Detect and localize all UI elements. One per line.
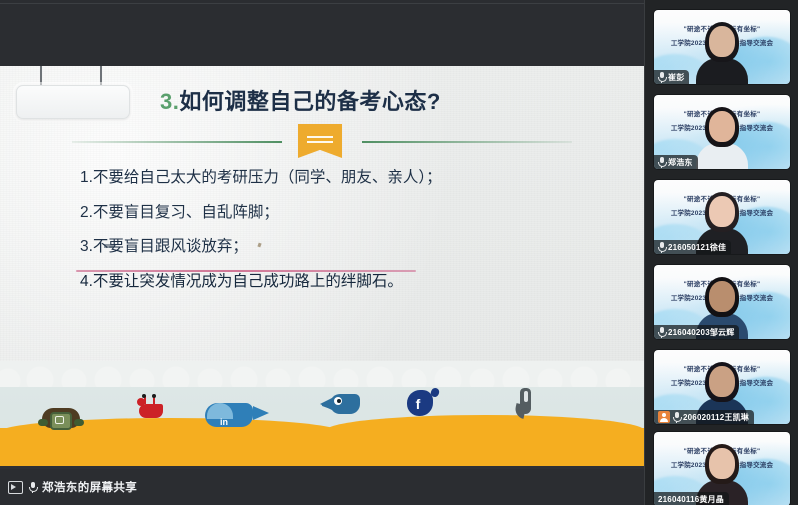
bullet-underline-highlight (76, 270, 416, 272)
participant-tile[interactable]: "研途不迷茫 航标有坐标"工学院2023届考研报考指导交流会216040203邹… (654, 265, 790, 339)
slide-title: 3.如何调整自己的备考心态? (160, 84, 560, 116)
participant-name-bar: 崔彭 (654, 70, 689, 84)
presentation-slide: 3.如何调整自己的备考心态? 1.不要给自己太大的考研压力（同学、朋友、亲人）；… (0, 66, 645, 466)
zoom-meeting-window: 3.如何调整自己的备考心态? 1.不要给自己太大的考研压力（同学、朋友、亲人）；… (0, 0, 798, 505)
instagram-turtle-icon (38, 406, 84, 432)
microphone-icon (658, 72, 665, 82)
slide-bullet-list: 1.不要给自己太大的考研压力（同学、朋友、亲人）； 2.不要盲目复习、自乱阵脚；… (80, 170, 600, 308)
participant-name-bar: 206020112王凯琳 (654, 410, 754, 424)
participant-tile[interactable]: "研途不迷茫 航标有坐标"工学院2023届考研报考指导交流会崔彭 (654, 10, 790, 84)
participant-name: 216040203邹云辉 (668, 327, 734, 338)
participant-name-bar: 216040203邹云辉 (654, 325, 739, 339)
ribbon-bookmark-icon (298, 124, 342, 158)
slide-title-text: 如何调整自己的备考心态? (179, 89, 440, 114)
ribbon-line-top (307, 136, 333, 138)
participant-name: 206020112王凯琳 (683, 412, 749, 423)
screen-share-status-bar: 郑浩东的屏幕共享 (0, 469, 645, 505)
divider-line-left (72, 141, 282, 143)
microphone-icon (658, 242, 665, 252)
facebook-fish-label: f (416, 396, 421, 412)
participant-name-bar: 216050121徐佳 (654, 240, 731, 254)
participant-tile[interactable]: "研途不迷茫 航标有坐标"工学院2023届考研报考指导交流会216040116黄… (654, 432, 790, 505)
participant-name: 崔彭 (668, 72, 684, 83)
participant-video-image (695, 107, 749, 169)
shared-screen-top-letterbox (0, 0, 645, 66)
screen-share-label: 郑浩东的屏幕共享 (42, 479, 137, 495)
slide-footer-illustration: in f (0, 361, 645, 466)
participant-tile[interactable]: "研途不迷茫 航标有坐标"工学院2023届考研报考指导交流会郑浩东 (654, 95, 790, 169)
participant-video-strip[interactable]: "研途不迷茫 航标有坐标"工学院2023届考研报考指导交流会崔彭"研途不迷茫 航… (644, 0, 798, 505)
participant-name-bar: 郑浩东 (654, 155, 698, 169)
wave-foam (0, 361, 645, 387)
avatar-icon (658, 411, 670, 423)
microphone-icon (29, 482, 36, 492)
participant-name: 郑浩东 (668, 157, 693, 168)
linkedin-whale-label: in (220, 417, 228, 427)
screen-share-icon (8, 481, 23, 494)
title-divider (72, 124, 572, 158)
top-hairline (0, 3, 645, 4)
microphone-icon (673, 412, 680, 422)
bullet-item: 3.不要盲目跟风谈放弃； (80, 239, 600, 255)
slide-title-number: 3. (160, 89, 179, 114)
facebook-fish-icon: f (405, 388, 437, 420)
participant-name: 216050121徐佳 (668, 242, 726, 253)
ribbon-line-bottom (307, 141, 333, 143)
placard-board (16, 85, 130, 119)
divider-line-right (362, 141, 572, 143)
participant-name-bar: 216040116黄月晶 (654, 492, 729, 505)
hanging-placard (10, 66, 140, 116)
twitter-fish-icon (320, 392, 362, 418)
annotation-mark (104, 244, 114, 248)
microphone-icon (658, 157, 665, 167)
participant-tile[interactable]: "研途不迷茫 航标有坐标"工学院2023届考研报考指导交流会216050121徐… (654, 180, 790, 254)
gray-fish-icon (515, 386, 535, 420)
participant-name: 216040116黄月晶 (658, 494, 724, 505)
pinterest-crab-icon (135, 396, 167, 420)
participant-video-image (695, 22, 749, 84)
bullet-item: 4.不要让突发情况成为自己成功路上的绊脚石。 (80, 274, 600, 290)
shared-screen-area[interactable]: 3.如何调整自己的备考心态? 1.不要给自己太大的考研压力（同学、朋友、亲人）；… (0, 0, 645, 505)
bullet-item: 2.不要盲目复习、自乱阵脚； (80, 205, 600, 221)
bullet-item: 1.不要给自己太大的考研压力（同学、朋友、亲人）； (80, 170, 600, 186)
microphone-icon (658, 327, 665, 337)
linkedin-whale-icon: in (205, 400, 269, 428)
participant-tile[interactable]: "研途不迷茫 航标有坐标"工学院2023届考研报考指导交流会206020112王… (654, 350, 790, 424)
sand-bed (0, 428, 645, 466)
